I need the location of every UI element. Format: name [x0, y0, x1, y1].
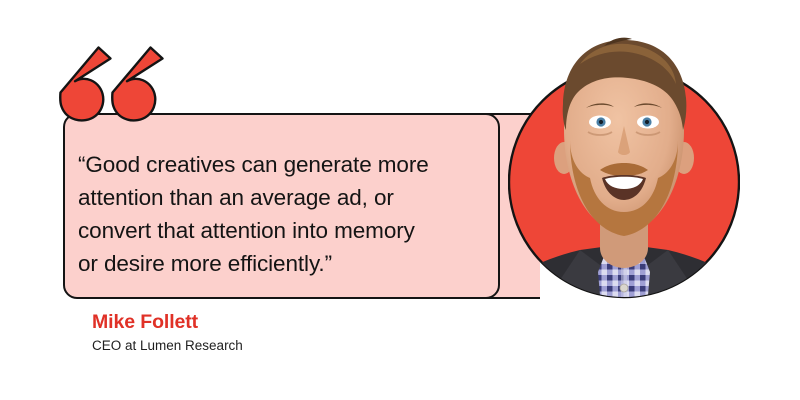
portrait-avatar: Portrait photograph of Mike Follett, a s…: [508, 22, 740, 342]
quotation-mark-icon: [58, 45, 178, 130]
attribution-role: CEO at Lumen Research: [92, 336, 243, 355]
quote-graphic: “Good creatives can generate more attent…: [0, 0, 800, 400]
attribution-name: Mike Follett: [92, 310, 243, 334]
attribution: Mike Follett CEO at Lumen Research: [92, 310, 243, 355]
quote-text: “Good creatives can generate more attent…: [78, 148, 498, 280]
